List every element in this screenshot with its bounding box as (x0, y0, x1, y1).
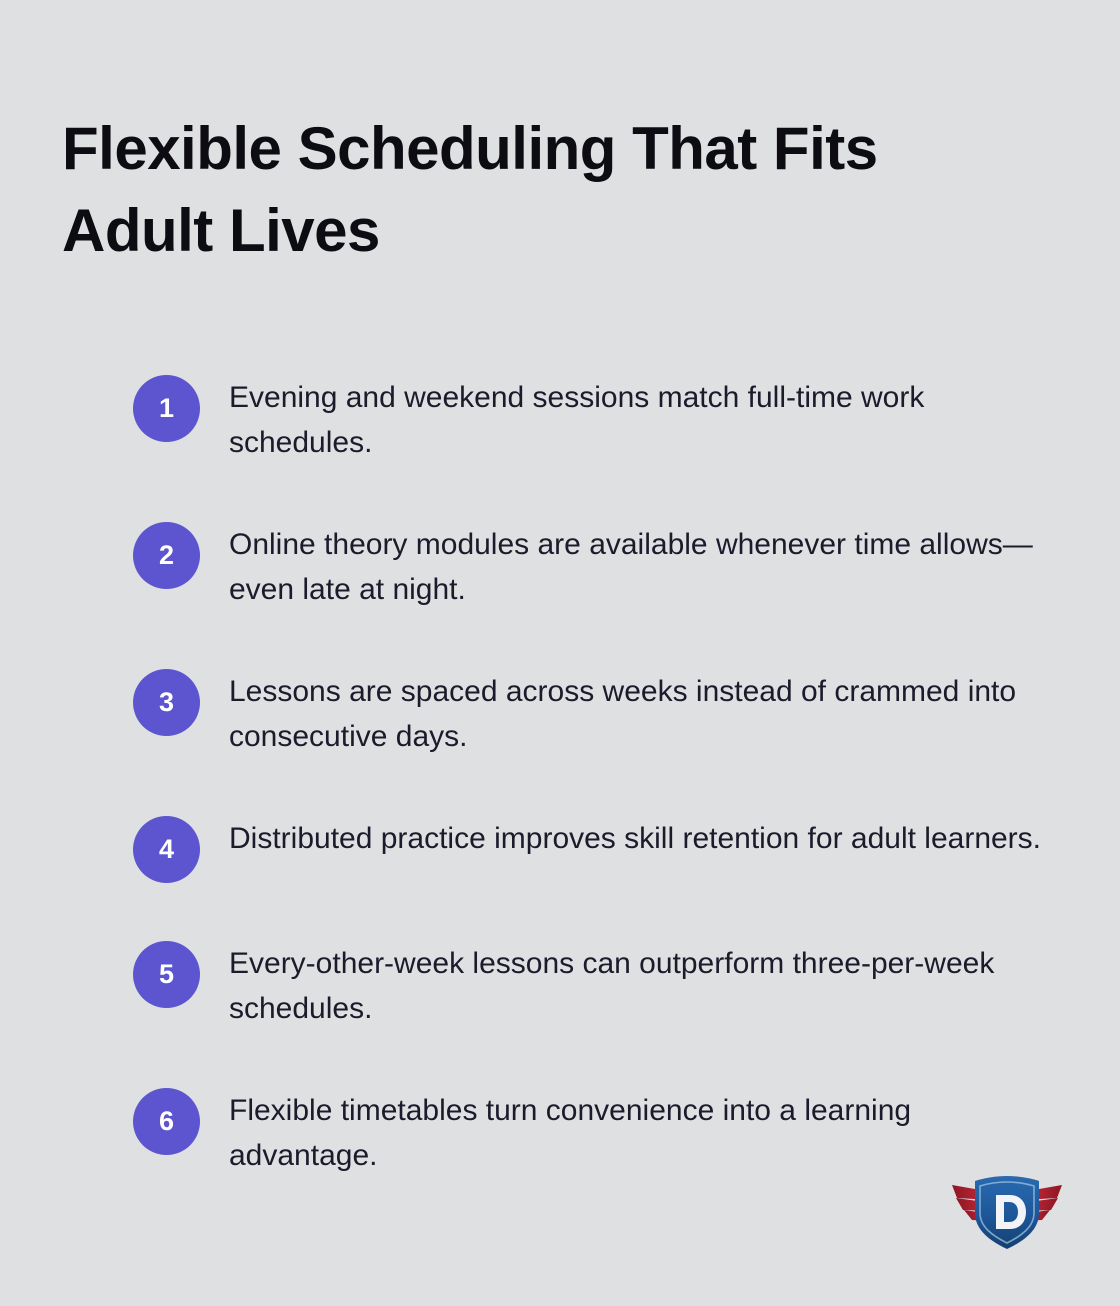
list-item-text: Lessons are spaced across weeks instead … (229, 667, 1043, 759)
list-item-number-badge: 4 (133, 816, 200, 883)
list-item-number-badge: 3 (133, 669, 200, 736)
list-item-text: Evening and weekend sessions match full-… (229, 373, 1043, 465)
list-item-number-badge: 2 (133, 522, 200, 589)
list-item-text: Flexible timetables turn convenience int… (229, 1086, 1043, 1178)
list-item: 1 Evening and weekend sessions match ful… (133, 373, 1043, 465)
list-item: 5 Every-other-week lessons can outperfor… (133, 939, 1043, 1031)
page-title: Flexible Scheduling That Fits Adult Live… (62, 108, 1022, 271)
list-item-number-badge: 5 (133, 941, 200, 1008)
list-item-text: Distributed practice improves skill rete… (229, 814, 1043, 861)
list-item-text: Every-other-week lessons can outperform … (229, 939, 1043, 1031)
list-item-text: Online theory modules are available when… (229, 520, 1043, 612)
brand-logo (944, 1160, 1070, 1256)
list-item: 2 Online theory modules are available wh… (133, 520, 1043, 612)
list-item-number-badge: 6 (133, 1088, 200, 1155)
list-item-number-badge: 1 (133, 375, 200, 442)
shield-icon (975, 1176, 1039, 1249)
list-item: 4 Distributed practice improves skill re… (133, 814, 1043, 884)
list-item: 6 Flexible timetables turn convenience i… (133, 1086, 1043, 1178)
infographic-card: Flexible Scheduling That Fits Adult Live… (0, 0, 1120, 1306)
list-item: 3 Lessons are spaced across weeks instea… (133, 667, 1043, 759)
benefits-list: 1 Evening and weekend sessions match ful… (133, 373, 1043, 1178)
